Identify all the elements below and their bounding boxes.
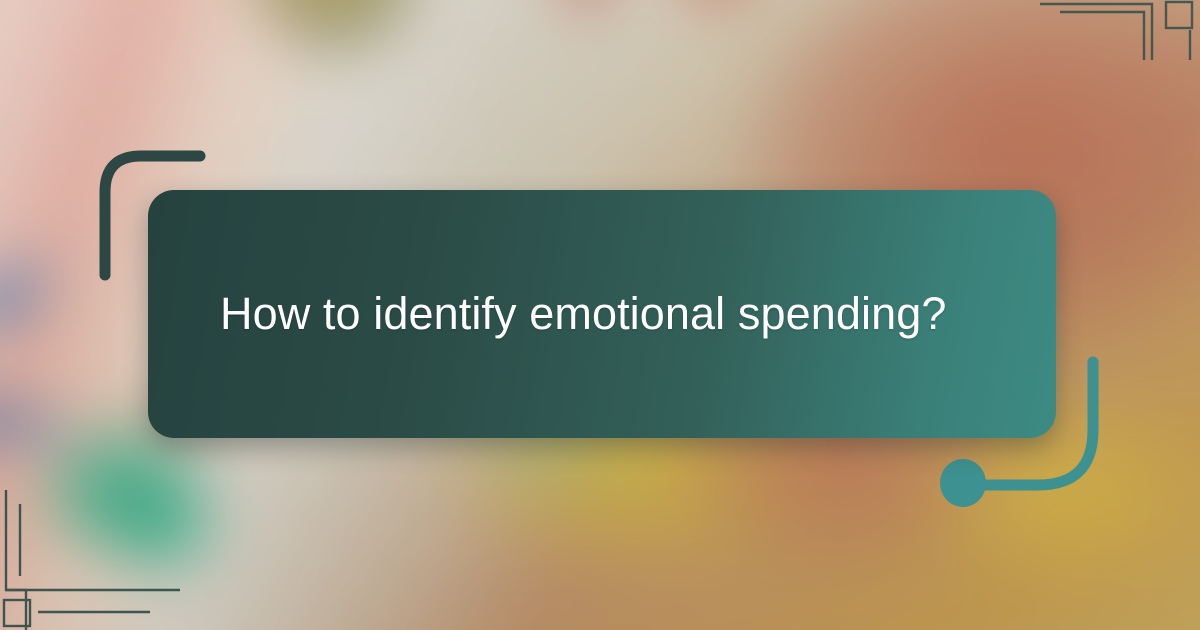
corner-bracket-bottom-left [0, 490, 180, 630]
page-title: How to identify emotional spending? [220, 288, 946, 340]
share-card-canvas: How to identify emotional spending? [0, 0, 1200, 630]
headline-card: How to identify emotional spending? [148, 190, 1056, 438]
corner-bracket-top-right [1040, 0, 1200, 60]
decor-dot-bottom-right [940, 459, 986, 507]
